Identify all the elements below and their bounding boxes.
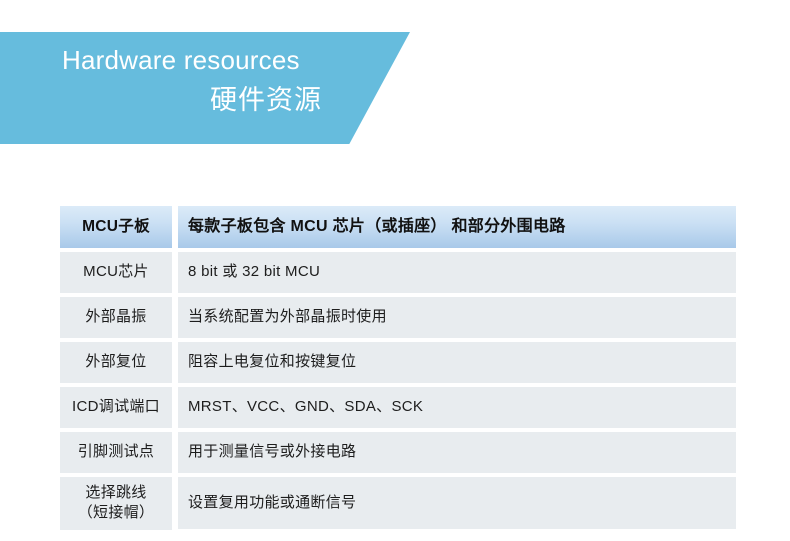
row-cell-label: 外部复位 [60, 342, 172, 383]
table-row: 外部复位 阻容上电复位和按键复位 [60, 342, 736, 383]
row-label-text: 外部复位 [60, 342, 172, 383]
hardware-resources-table: MCU子板 每款子板包含 MCU 芯片（或插座） 和部分外围电路 MCU芯片 8… [60, 206, 736, 530]
banner-text-group: Hardware resources 硬件资源 [0, 32, 410, 144]
row-description-text: 用于测量信号或外接电路 [178, 432, 736, 473]
page-title-chinese: 硬件资源 [0, 86, 322, 116]
row-label-text: 外部晶振 [60, 297, 172, 338]
page-title-english: Hardware resources [62, 46, 300, 75]
table-row: MCU芯片 8 bit 或 32 bit MCU [60, 252, 736, 293]
row-cell-label: ICD调试端口 [60, 387, 172, 428]
row-label-text-secondary: （短接帽） [78, 503, 155, 523]
row-cell-description: 当系统配置为外部晶振时使用 [178, 297, 736, 338]
table-row: 外部晶振 当系统配置为外部晶振时使用 [60, 297, 736, 338]
row-label-text: MCU芯片 [60, 252, 172, 293]
row-cell-description: MRST、VCC、GND、SDA、SCK [178, 387, 736, 428]
row-cell-label: 引脚测试点 [60, 432, 172, 473]
row-label-text: 引脚测试点 [60, 432, 172, 473]
table-body: MCU子板 每款子板包含 MCU 芯片（或插座） 和部分外围电路 MCU芯片 8… [60, 206, 736, 530]
row-cell-label: 选择跳线 （短接帽） [60, 477, 172, 530]
row-cell-description: 设置复用功能或通断信号 [178, 477, 736, 530]
row-cell-description: 用于测量信号或外接电路 [178, 432, 736, 473]
row-label-text: ICD调试端口 [60, 387, 172, 428]
header-cell-label: MCU子板 [60, 206, 172, 248]
header-description-text: 每款子板包含 MCU 芯片（或插座） 和部分外围电路 [178, 206, 736, 248]
header-cell-description: 每款子板包含 MCU 芯片（或插座） 和部分外围电路 [178, 206, 736, 248]
row-label-text: 选择跳线 [85, 483, 146, 503]
row-description-text: 阻容上电复位和按键复位 [178, 342, 736, 383]
header-label-text: MCU子板 [60, 206, 172, 248]
row-cell-description: 阻容上电复位和按键复位 [178, 342, 736, 383]
page-header-banner: Hardware resources 硬件资源 [0, 32, 410, 144]
row-cell-label: 外部晶振 [60, 297, 172, 338]
table-row: 选择跳线 （短接帽） 设置复用功能或通断信号 [60, 477, 736, 530]
row-description-text: 8 bit 或 32 bit MCU [178, 252, 736, 293]
row-description-text: 当系统配置为外部晶振时使用 [178, 297, 736, 338]
row-description-text: MRST、VCC、GND、SDA、SCK [178, 387, 736, 428]
row-label-lines: 选择跳线 （短接帽） [78, 483, 155, 524]
row-label-multiline: 选择跳线 （短接帽） [60, 477, 172, 530]
table-row: ICD调试端口 MRST、VCC、GND、SDA、SCK [60, 387, 736, 428]
row-cell-label: MCU芯片 [60, 252, 172, 293]
row-cell-description: 8 bit 或 32 bit MCU [178, 252, 736, 293]
row-description-text: 设置复用功能或通断信号 [178, 477, 736, 529]
table-header-row: MCU子板 每款子板包含 MCU 芯片（或插座） 和部分外围电路 [60, 206, 736, 248]
table-row: 引脚测试点 用于测量信号或外接电路 [60, 432, 736, 473]
